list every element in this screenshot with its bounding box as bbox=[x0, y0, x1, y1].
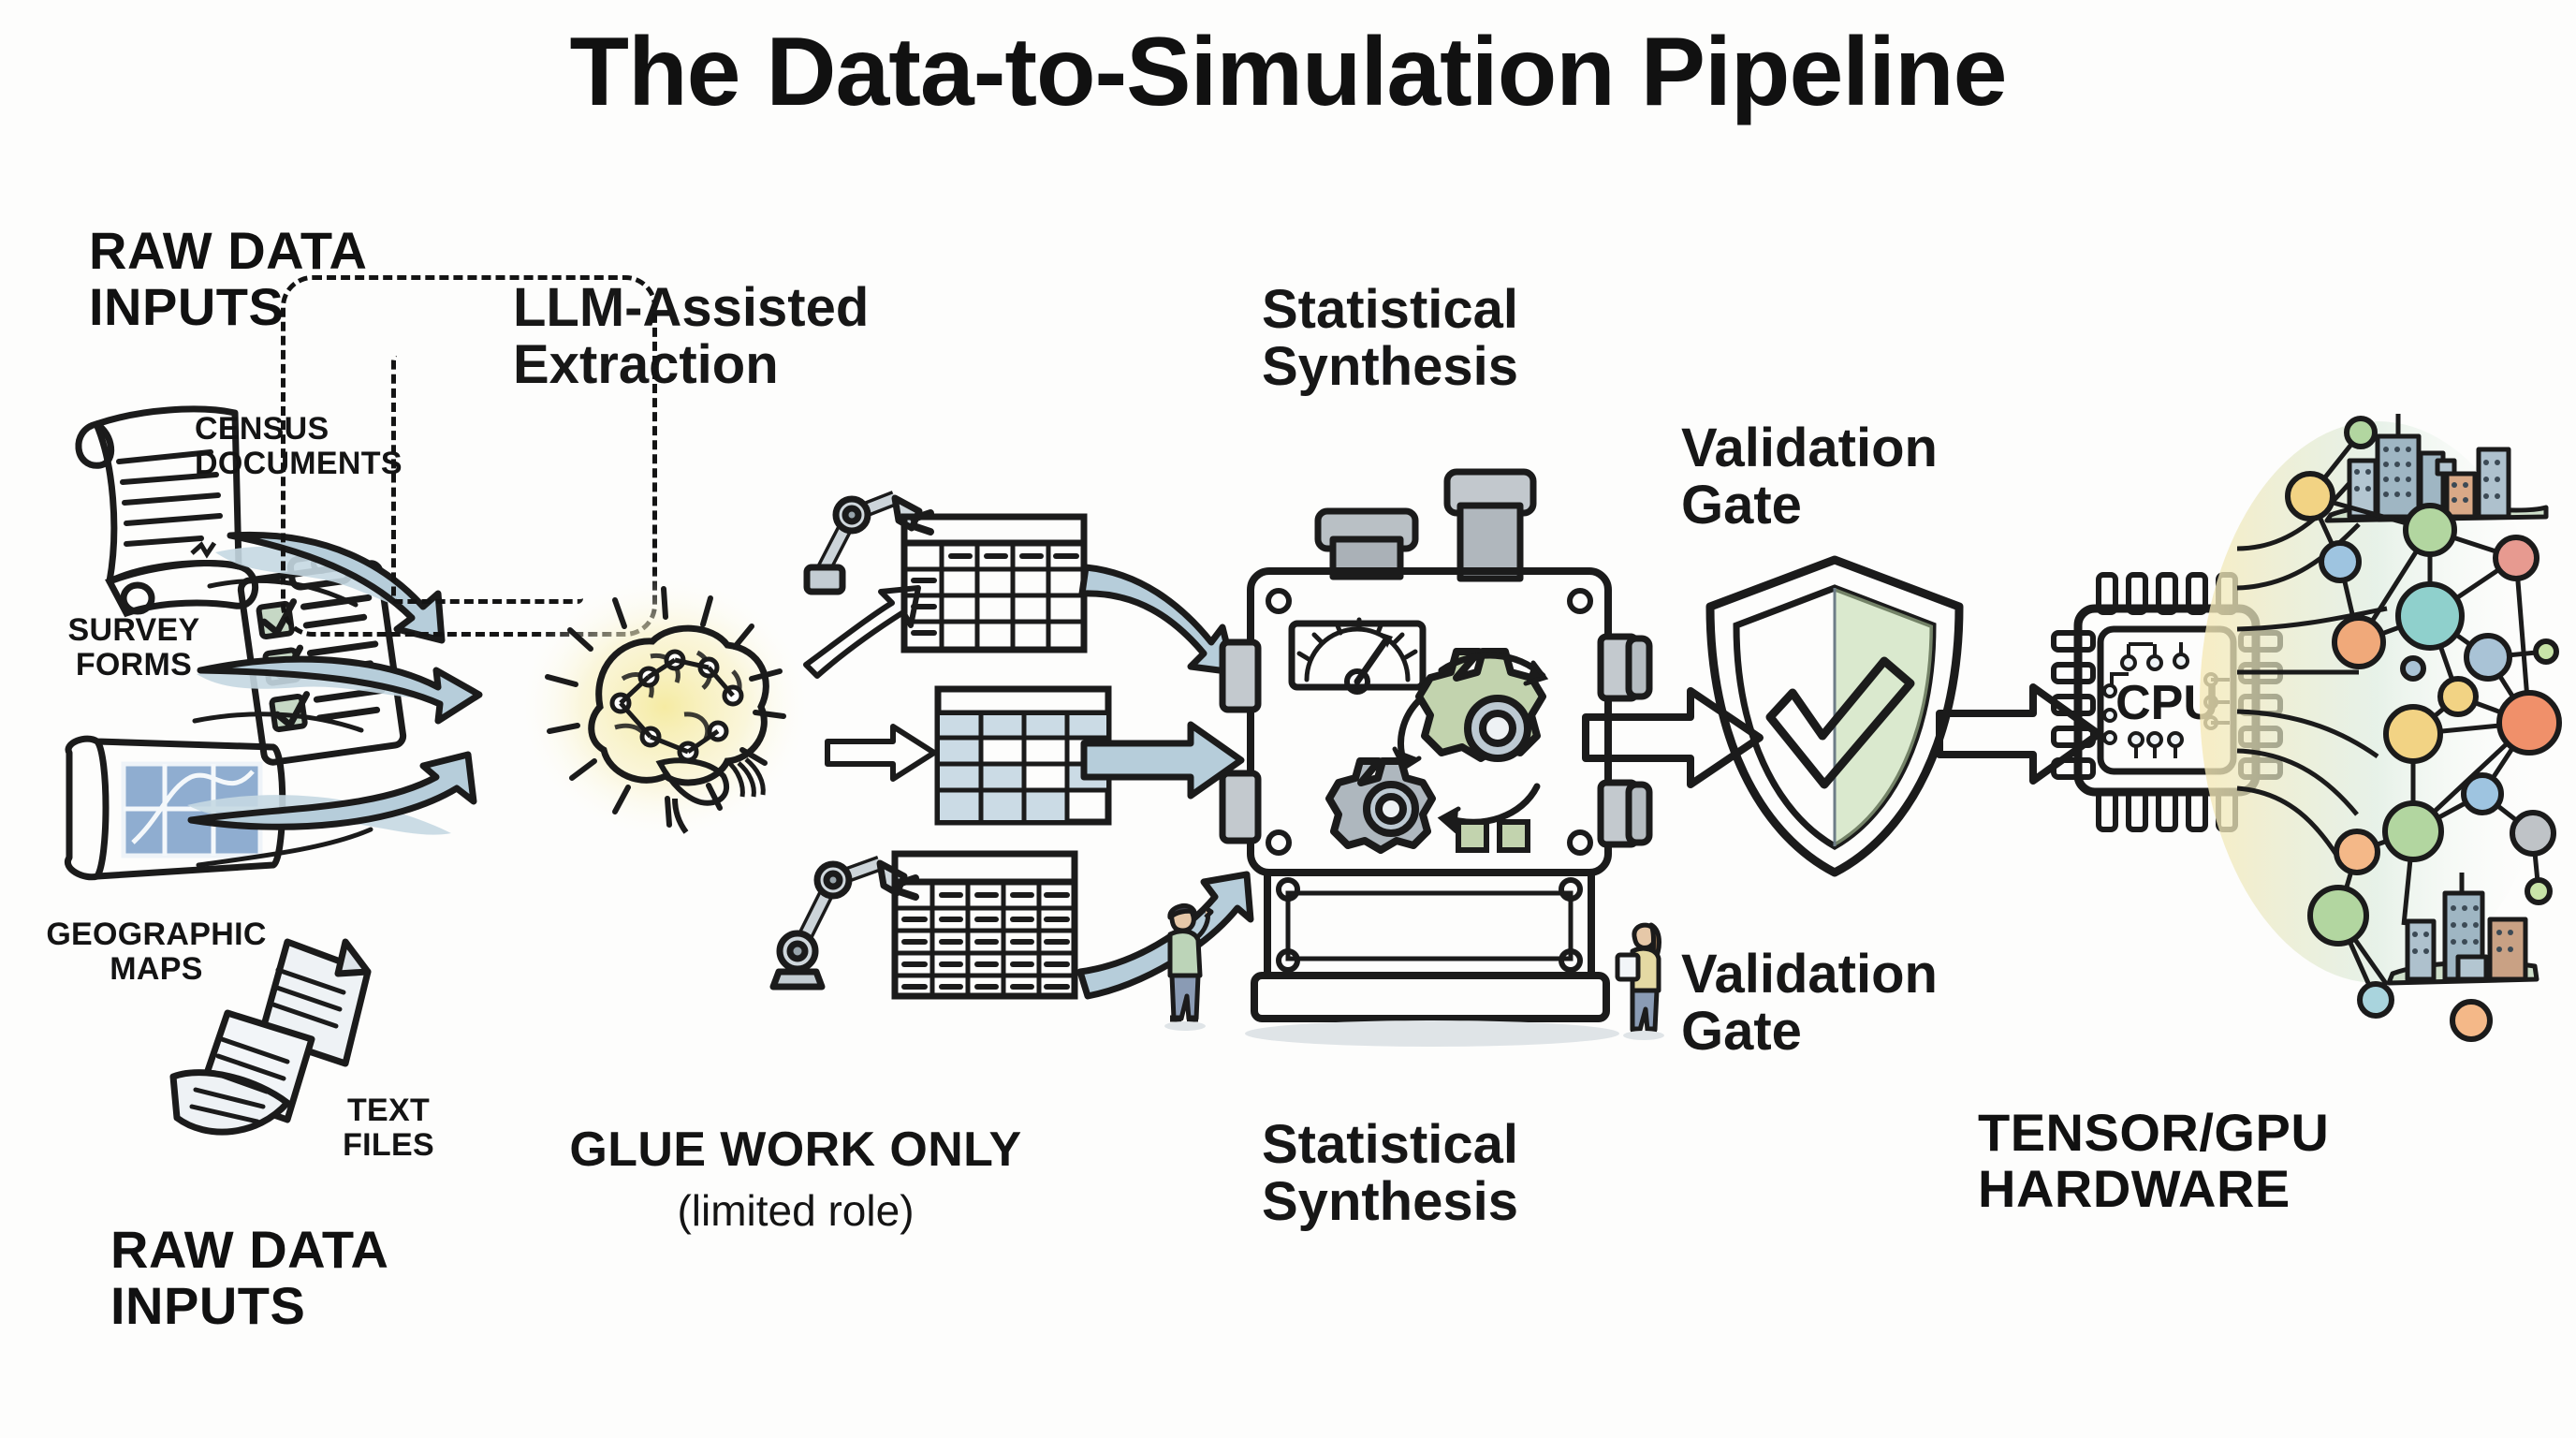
page-title: The Data-to-Simulation Pipeline bbox=[0, 22, 2576, 122]
brain-to-table-arrow bbox=[800, 579, 922, 682]
limited-role-label: (limited role) bbox=[524, 1187, 1067, 1235]
raw-inputs-footer: RAW DATA INPUTS bbox=[110, 1222, 388, 1335]
tensor-gpu-footer: TENSOR/GPU HARDWARE bbox=[1978, 1105, 2329, 1218]
shield-icon bbox=[1699, 552, 1970, 880]
statistical-synthesis-heading: Statistical Synthesis bbox=[1262, 281, 1518, 396]
validation-gate-heading: Validation Gate bbox=[1681, 419, 1938, 535]
brain-to-table-arrow bbox=[826, 721, 938, 786]
diagram-canvas: The Data-to-Simulation Pipeline RAW DATA… bbox=[0, 0, 2576, 1438]
person-icon bbox=[1612, 917, 1677, 1039]
network-graph-icon bbox=[2237, 374, 2576, 1030]
table-icon bbox=[900, 513, 1088, 653]
brain-icon bbox=[510, 566, 819, 847]
validation-gate-footer: Validation Gate bbox=[1681, 946, 1938, 1061]
glue-work-label: GLUE WORK ONLY bbox=[524, 1123, 1067, 1177]
statistical-synthesis-footer: Statistical Synthesis bbox=[1262, 1116, 1518, 1231]
person-icon bbox=[1153, 899, 1219, 1030]
text-files-label: TEXT FILES bbox=[309, 1093, 468, 1164]
table-icon bbox=[891, 850, 1078, 1000]
